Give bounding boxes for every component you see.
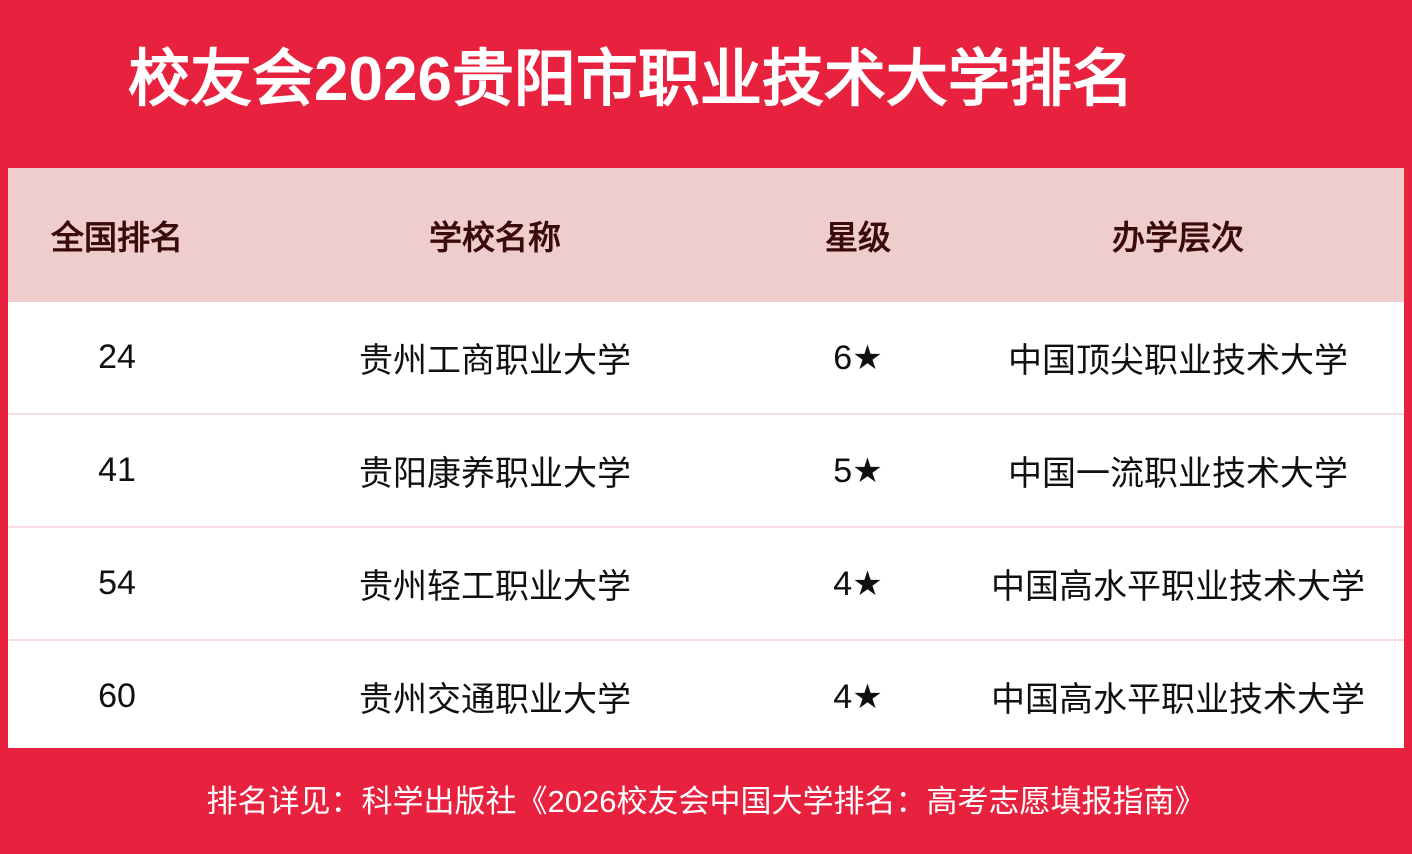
cell-level: 中国一流职业技术大学 <box>952 414 1404 527</box>
ranking-table-panel: 全国排名 学校名称 星级 办学层次 24 贵州工商职业大学 6★ 中国顶尖职业技… <box>8 168 1404 748</box>
column-header-rank: 全国排名 <box>8 168 226 302</box>
table-row: 41 贵阳康养职业大学 5★ 中国一流职业技术大学 <box>8 414 1404 527</box>
table-body: 24 贵州工商职业大学 6★ 中国顶尖职业技术大学 41 贵阳康养职业大学 5★… <box>8 302 1404 752</box>
column-header-star: 星级 <box>764 168 952 302</box>
cell-star: 4★ <box>764 640 952 752</box>
cell-school: 贵州工商职业大学 <box>226 302 764 414</box>
cell-school: 贵州轻工职业大学 <box>226 527 764 640</box>
ranking-table: 全国排名 学校名称 星级 办学层次 24 贵州工商职业大学 6★ 中国顶尖职业技… <box>8 168 1404 752</box>
page-title: 校友会2026贵阳市职业技术大学排名 <box>128 49 1134 111</box>
source-note: 排名详见：科学出版社《2026校友会中国大学排名：高考志愿填报指南》 <box>207 786 1206 817</box>
cell-level: 中国高水平职业技术大学 <box>952 640 1404 752</box>
cell-rank: 41 <box>8 414 226 527</box>
table-row: 60 贵州交通职业大学 4★ 中国高水平职业技术大学 <box>8 640 1404 752</box>
cell-rank: 54 <box>8 527 226 640</box>
cell-level: 中国高水平职业技术大学 <box>952 527 1404 640</box>
title-banner: 校友会2026贵阳市职业技术大学排名 <box>0 0 1412 160</box>
table-header-row: 全国排名 学校名称 星级 办学层次 <box>8 168 1404 302</box>
table-row: 54 贵州轻工职业大学 4★ 中国高水平职业技术大学 <box>8 527 1404 640</box>
column-header-school: 学校名称 <box>226 168 764 302</box>
cell-school: 贵州交通职业大学 <box>226 640 764 752</box>
cell-rank: 24 <box>8 302 226 414</box>
cell-rank: 60 <box>8 640 226 752</box>
cell-level: 中国顶尖职业技术大学 <box>952 302 1404 414</box>
cell-star: 5★ <box>764 414 952 527</box>
table-row: 24 贵州工商职业大学 6★ 中国顶尖职业技术大学 <box>8 302 1404 414</box>
cell-star: 6★ <box>764 302 952 414</box>
table-header: 全国排名 学校名称 星级 办学层次 <box>8 168 1404 302</box>
cell-school: 贵阳康养职业大学 <box>226 414 764 527</box>
ranking-poster: 校友会2026贵阳市职业技术大学排名 全国排名 学校名称 星级 办学层次 <box>0 0 1412 854</box>
cell-star: 4★ <box>764 527 952 640</box>
column-header-level: 办学层次 <box>952 168 1404 302</box>
footer-bar: 排名详见：科学出版社《2026校友会中国大学排名：高考志愿填报指南》 <box>0 748 1412 854</box>
